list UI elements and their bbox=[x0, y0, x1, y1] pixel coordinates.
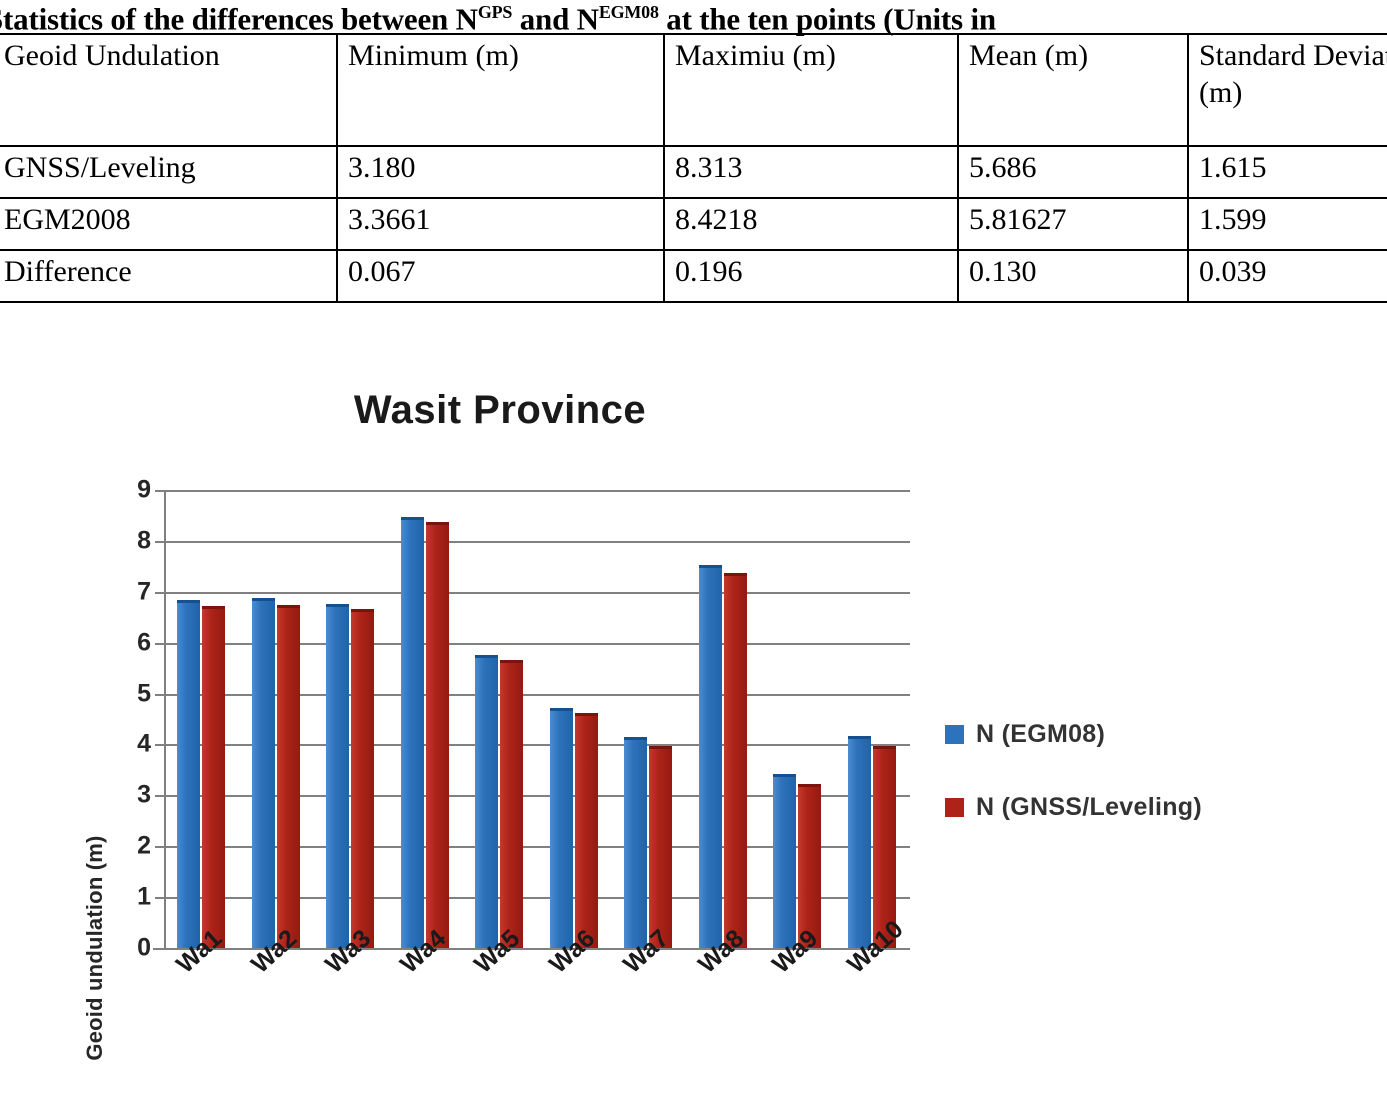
bar-group bbox=[165, 490, 240, 948]
table-row: GNSS/Leveling 3.180 8.313 5.686 1.615 bbox=[0, 146, 1387, 198]
bar-group bbox=[463, 490, 538, 948]
y-axis-tick-label: 4 bbox=[137, 730, 151, 759]
table-caption: Statistics of the differences between NG… bbox=[0, 0, 1387, 37]
y-axis-tick-label: 6 bbox=[137, 628, 151, 657]
bar-group bbox=[761, 490, 836, 948]
bar-egm08 bbox=[550, 708, 573, 948]
row-label-difference: Difference bbox=[0, 250, 337, 302]
bar-egm08 bbox=[773, 774, 796, 948]
bar-gnss-leveling bbox=[351, 609, 374, 948]
y-axis-tick bbox=[155, 490, 165, 492]
legend-label-egm08: N (EGM08) bbox=[976, 720, 1105, 749]
caption-middle: and N bbox=[512, 1, 599, 36]
cell-egm-minimum: 3.3661 bbox=[337, 198, 664, 250]
table-row: Difference 0.067 0.196 0.130 0.039 bbox=[0, 250, 1387, 302]
bar-group bbox=[538, 490, 613, 948]
y-axis-tick bbox=[155, 948, 165, 950]
y-axis-tick-label: 0 bbox=[137, 934, 151, 963]
y-axis-tick bbox=[155, 846, 165, 848]
y-axis-tick bbox=[155, 744, 165, 746]
y-axis-tick-label: 7 bbox=[137, 577, 151, 606]
column-header-maximum: Maximiu (m) bbox=[664, 34, 958, 146]
column-header-minimum: Minimum (m) bbox=[337, 34, 664, 146]
cell-egm-mean: 5.81627 bbox=[958, 198, 1188, 250]
statistics-table: Geoid Undulation Minimum (m) Maximiu (m)… bbox=[0, 33, 1387, 303]
caption-superscript-gps: GPS bbox=[478, 2, 512, 22]
y-axis-tick bbox=[155, 897, 165, 899]
row-label-egm2008: EGM2008 bbox=[0, 198, 337, 250]
bar-gnss-leveling bbox=[649, 746, 672, 948]
cell-gnss-sd: 1.615 bbox=[1188, 146, 1387, 198]
column-header-standard-deviation: Standard Deviation (m) bbox=[1188, 34, 1387, 146]
y-axis-tick bbox=[155, 541, 165, 543]
legend-swatch-red-icon bbox=[945, 798, 964, 817]
bar-gnss-leveling bbox=[202, 606, 225, 948]
bar-egm08 bbox=[177, 600, 200, 948]
y-axis-tick bbox=[155, 643, 165, 645]
bar-egm08 bbox=[624, 737, 647, 948]
caption-prefix: Statistics of the differences between N bbox=[0, 1, 478, 36]
bar-gnss-leveling bbox=[426, 522, 449, 948]
cell-gnss-mean: 5.686 bbox=[958, 146, 1188, 198]
bar-egm08 bbox=[252, 598, 275, 948]
y-axis-title: Geoid undulation (m) bbox=[82, 798, 108, 1098]
caption-superscript-egm08: EGM08 bbox=[599, 2, 659, 22]
y-axis-tick bbox=[155, 795, 165, 797]
table-row: EGM2008 3.3661 8.4218 5.81627 1.599 bbox=[0, 198, 1387, 250]
y-axis-tick-label: 8 bbox=[137, 526, 151, 555]
y-axis-tick bbox=[155, 592, 165, 594]
y-axis-tick-label: 2 bbox=[137, 832, 151, 861]
table-header-row: Geoid Undulation Minimum (m) Maximiu (m)… bbox=[0, 34, 1387, 146]
cell-difference-minimum: 0.067 bbox=[337, 250, 664, 302]
row-label-gnss-leveling: GNSS/Leveling bbox=[0, 146, 337, 198]
bar-gnss-leveling bbox=[575, 713, 598, 948]
legend-swatch-blue-icon bbox=[945, 725, 964, 744]
bar-chart: Wasit Province Geoid undulation (m) 0123… bbox=[0, 360, 1387, 1090]
bar-gnss-leveling bbox=[798, 784, 821, 948]
bar-group bbox=[389, 490, 464, 948]
legend-label-gnss-leveling: N (GNSS/Leveling) bbox=[976, 793, 1202, 822]
bar-egm08 bbox=[699, 565, 722, 948]
y-axis-tick-label: 9 bbox=[137, 476, 151, 505]
chart-plot-wrapper: Geoid undulation (m) 0123456789 Wa1Wa2Wa… bbox=[0, 360, 1000, 1090]
bar-group bbox=[836, 490, 911, 948]
bar-egm08 bbox=[401, 517, 424, 948]
cell-gnss-maximum: 8.313 bbox=[664, 146, 958, 198]
bar-group bbox=[240, 490, 315, 948]
y-axis-tick-label: 1 bbox=[137, 883, 151, 912]
y-axis-tick-label: 5 bbox=[137, 679, 151, 708]
cell-egm-sd: 1.599 bbox=[1188, 198, 1387, 250]
bar-gnss-leveling bbox=[277, 605, 300, 948]
cell-gnss-minimum: 3.180 bbox=[337, 146, 664, 198]
cell-difference-mean: 0.130 bbox=[958, 250, 1188, 302]
bar-gnss-leveling bbox=[724, 573, 747, 949]
y-axis-tick bbox=[155, 694, 165, 696]
legend-item-gnss-leveling: N (GNSS/Leveling) bbox=[945, 793, 1365, 822]
cell-egm-maximum: 8.4218 bbox=[664, 198, 958, 250]
column-header-mean: Mean (m) bbox=[958, 34, 1188, 146]
bar-group bbox=[687, 490, 762, 948]
bar-egm08 bbox=[326, 604, 349, 948]
cell-difference-maximum: 0.196 bbox=[664, 250, 958, 302]
bar-egm08 bbox=[475, 655, 498, 948]
bar-egm08 bbox=[848, 736, 871, 948]
bar-group bbox=[314, 490, 389, 948]
plot-area: 0123456789 Wa1Wa2Wa3Wa4Wa5Wa6Wa7Wa8Wa9Wa… bbox=[165, 490, 910, 948]
column-header-geoid-undulation: Geoid Undulation bbox=[0, 34, 337, 146]
chart-legend: N (EGM08) N (GNSS/Leveling) bbox=[945, 720, 1365, 866]
legend-item-egm08: N (EGM08) bbox=[945, 720, 1365, 749]
caption-suffix: at the ten points (Units in bbox=[659, 1, 996, 36]
y-axis-tick-label: 3 bbox=[137, 781, 151, 810]
cell-difference-sd: 0.039 bbox=[1188, 250, 1387, 302]
bar-gnss-leveling bbox=[500, 660, 523, 948]
bar-group bbox=[612, 490, 687, 948]
